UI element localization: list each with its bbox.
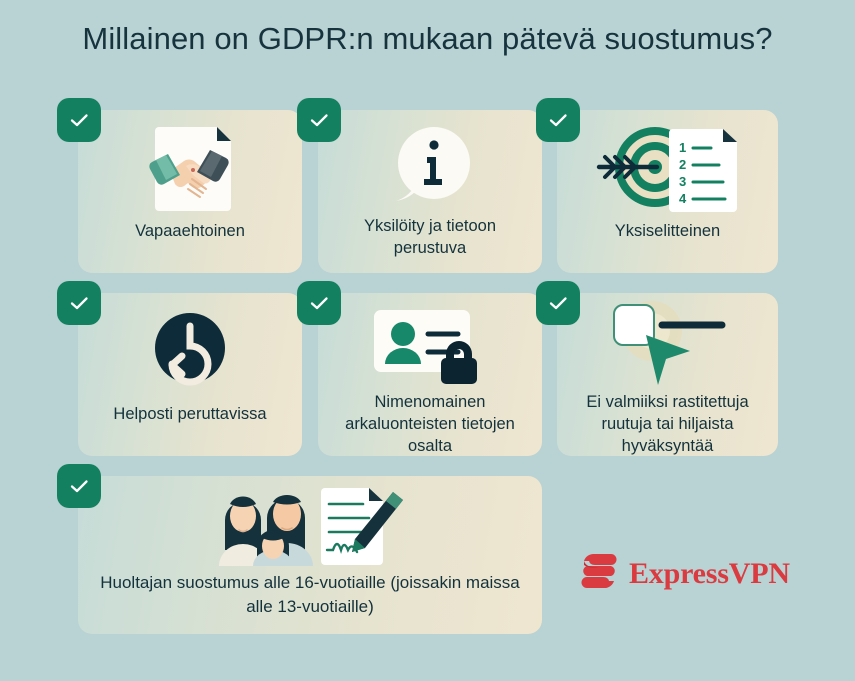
card-ei-valmiiksi-rastitettuja-ruutuja: Ei valmiiksi rastitettuja ruutuja tai hi… bbox=[557, 293, 778, 456]
handshake-icon bbox=[78, 118, 302, 216]
card-helposti-peruttavissa: Helposti peruttavissa bbox=[78, 293, 302, 456]
id-card-lock-icon bbox=[318, 305, 542, 385]
card-label: Ei valmiiksi rastitettuja ruutuja tai hi… bbox=[565, 391, 770, 457]
list-number-2: 2 bbox=[679, 157, 686, 172]
card-nimenomainen-arkaluonteisten-tietojen-osalta: Nimenomainen arkaluonteisten tietojen os… bbox=[318, 293, 542, 456]
expressvpn-wordmark: ExpressVPN bbox=[629, 557, 790, 591]
card-label: Helposti peruttavissa bbox=[86, 403, 294, 425]
expressvpn-e-logo-icon bbox=[578, 550, 620, 597]
page-title: Millainen on GDPR:n mukaan pätevä suostu… bbox=[0, 18, 855, 59]
list-number-1: 1 bbox=[679, 140, 686, 155]
list-number-4: 4 bbox=[679, 191, 687, 206]
card-vapaaehtoinen: Vapaaehtoinen bbox=[78, 110, 302, 273]
card-yksiselitteinen: 1 2 3 4 Yksiselitteinen bbox=[557, 110, 778, 273]
card-yksiloity-ja-tietoon-perustuva: Yksilöity ja tietoon perustuva bbox=[318, 110, 542, 273]
target-arrow-list-icon: 1 2 3 4 bbox=[557, 118, 778, 216]
undo-revoke-icon bbox=[78, 303, 302, 393]
empty-checkbox-cursor-icon bbox=[557, 301, 778, 387]
info-bubble-icon bbox=[318, 118, 542, 216]
card-label: Yksiselitteinen bbox=[565, 220, 770, 242]
card-label: Yksilöity ja tietoon perustuva bbox=[326, 215, 534, 259]
card-label: Nimenomainen arkaluonteisten tietojen os… bbox=[326, 391, 534, 457]
expressvpn-logo: ExpressVPN bbox=[578, 550, 790, 597]
card-label: Huoltajan suostumus alle 16-vuotiaille (… bbox=[86, 571, 534, 619]
list-number-3: 3 bbox=[679, 174, 686, 189]
card-huoltajan-suostumus: Huoltajan suostumus alle 16-vuotiaille (… bbox=[78, 476, 542, 634]
card-label: Vapaaehtoinen bbox=[86, 220, 294, 242]
family-signed-document-icon bbox=[78, 486, 542, 566]
